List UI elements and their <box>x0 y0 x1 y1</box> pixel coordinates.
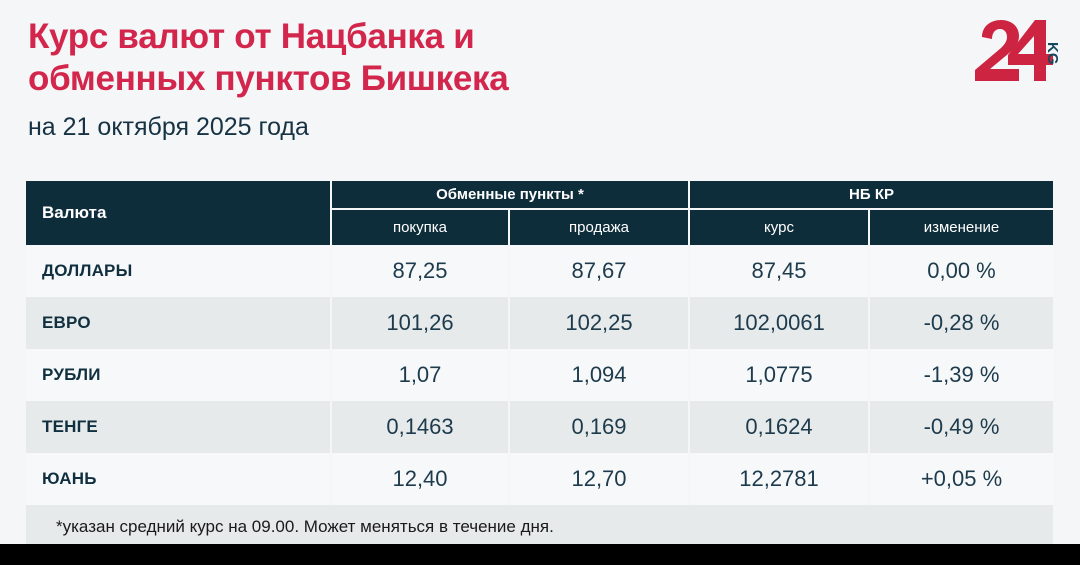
cell-buy: 87,25 <box>331 245 509 297</box>
cell-sell: 0,169 <box>509 401 689 453</box>
table-row: ДОЛЛАРЫ 87,25 87,67 87,45 0,00 % <box>26 245 1053 297</box>
column-header-currency: Валюта <box>26 181 331 245</box>
cell-buy: 101,26 <box>331 297 509 349</box>
table-row: ТЕНГЕ 0,1463 0,169 0,1624 -0,49 % <box>26 401 1053 453</box>
page-subtitle: на 21 октября 2025 года <box>28 113 958 142</box>
page-title: Курс валют от Нацбанка и обменных пункто… <box>28 16 958 101</box>
column-header-sell: продажа <box>509 209 689 245</box>
infographic-page: Курс валют от Нацбанка и обменных пункто… <box>0 0 1080 565</box>
cell-sell: 12,70 <box>509 453 689 505</box>
cell-change: -0,49 % <box>869 401 1053 453</box>
header-group-row: Валюта Обменные пункты * НБ КР <box>26 181 1053 209</box>
currency-rates-table: Валюта Обменные пункты * НБ КР покупка п… <box>26 181 1053 548</box>
table-row: ЮАНЬ 12,40 12,70 12,2781 +0,05 % <box>26 453 1053 505</box>
cell-currency: ЮАНЬ <box>26 453 331 505</box>
footnote-text: *указан средний курс на 09.00. Может мен… <box>26 505 1053 548</box>
cell-rate: 102,0061 <box>689 297 869 349</box>
column-header-rate: курс <box>689 209 869 245</box>
cell-rate: 1,0775 <box>689 349 869 401</box>
header-block: Курс валют от Нацбанка и обменных пункто… <box>28 16 958 142</box>
cell-rate: 12,2781 <box>689 453 869 505</box>
cell-change: +0,05 % <box>869 453 1053 505</box>
cell-rate: 0,1624 <box>689 401 869 453</box>
cell-currency: ТЕНГЕ <box>26 401 331 453</box>
rates-table-container: Валюта Обменные пункты * НБ КР покупка п… <box>26 181 1053 548</box>
table-header: Валюта Обменные пункты * НБ КР покупка п… <box>26 181 1053 245</box>
cell-change: 0,00 % <box>869 245 1053 297</box>
svg-text:KG: KG <box>1044 42 1058 65</box>
column-group-national-bank: НБ КР <box>689 181 1053 209</box>
cell-sell: 102,25 <box>509 297 689 349</box>
table-row: РУБЛИ 1,07 1,094 1,0775 -1,39 % <box>26 349 1053 401</box>
table-body: ДОЛЛАРЫ 87,25 87,67 87,45 0,00 % ЕВРО 10… <box>26 245 1053 505</box>
cell-change: -1,39 % <box>869 349 1053 401</box>
cell-buy: 0,1463 <box>331 401 509 453</box>
cell-rate: 87,45 <box>689 245 869 297</box>
table-footer: *указан средний курс на 09.00. Может мен… <box>26 505 1053 548</box>
cell-change: -0,28 % <box>869 297 1053 349</box>
column-header-change: изменение <box>869 209 1053 245</box>
footnote-row: *указан средний курс на 09.00. Может мен… <box>26 505 1053 548</box>
cell-buy: 1,07 <box>331 349 509 401</box>
bottom-black-bar <box>0 544 1080 565</box>
brand-logo-24kg: KG <box>972 20 1058 82</box>
logo-24-mark <box>975 20 1053 81</box>
cell-currency: ЕВРО <box>26 297 331 349</box>
logo-kg-text: KG <box>1044 42 1058 65</box>
cell-buy: 12,40 <box>331 453 509 505</box>
table-row: ЕВРО 101,26 102,25 102,0061 -0,28 % <box>26 297 1053 349</box>
column-group-exchange-points: Обменные пункты * <box>331 181 689 209</box>
cell-sell: 1,094 <box>509 349 689 401</box>
cell-sell: 87,67 <box>509 245 689 297</box>
cell-currency: ДОЛЛАРЫ <box>26 245 331 297</box>
cell-currency: РУБЛИ <box>26 349 331 401</box>
column-header-buy: покупка <box>331 209 509 245</box>
